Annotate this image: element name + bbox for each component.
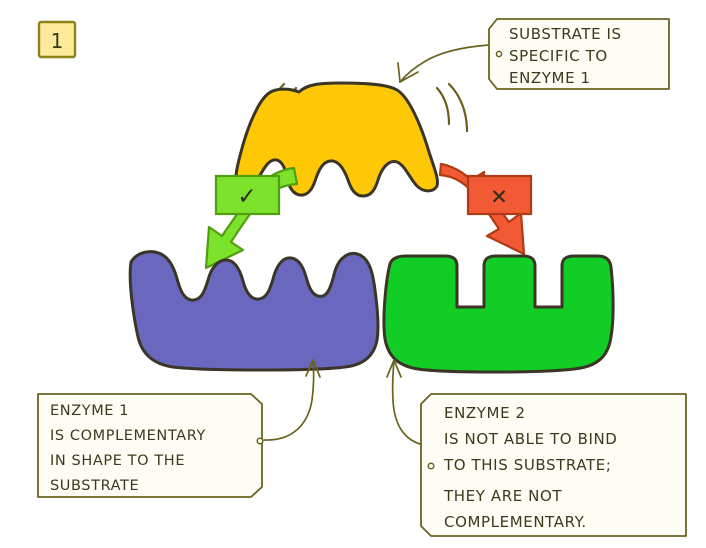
step-number-badge: 1 [39,22,75,57]
enzyme-2-shape [384,256,613,372]
label-substrate-note: SUBSTRATE IS SPECIFIC TO ENZYME 1 [489,19,669,89]
badge-number: 1 [51,29,64,53]
leader-enzyme-2 [387,360,424,445]
label-enzyme-2-line-5: COMPLEMENTARY. [444,513,587,531]
label-enzyme-2-note: ENZYME 2 IS NOT ABLE TO BIND TO THIS SUB… [421,394,686,536]
label-enzyme-1-anchor [257,438,263,444]
label-enzyme-1-line-2: IS COMPLEMENTARY [50,428,206,444]
motion-lines-right [437,84,467,131]
label-enzyme-1-note: ENZYME 1 IS COMPLEMENTARY IN SHAPE TO TH… [38,394,263,497]
label-enzyme-2-line-4: THEY ARE NOT [443,487,562,505]
yes-arrow: ✓ [206,168,297,268]
enzyme-2-body [384,256,613,372]
label-enzyme-2-line-3: TO THIS SUBSTRATE; [443,456,612,474]
label-substrate-line-1: SUBSTRATE IS [509,25,622,43]
label-enzyme-1-line-3: IN SHAPE TO THE [50,453,185,469]
label-enzyme-2-line-2: IS NOT ABLE TO BIND [444,430,617,448]
label-enzyme-2-anchor [428,463,434,469]
label-substrate-line-2: SPECIFIC TO [509,47,608,65]
label-enzyme-1-line-1: ENZYME 1 [50,403,129,419]
leader-substrate [398,45,489,82]
check-icon: ✓ [237,184,256,210]
no-arrow: ✕ [440,164,531,254]
diagram-artboard: 1 ✓ ✕ [0,0,706,548]
leader-enzyme-1 [264,360,320,440]
label-substrate-anchor [496,51,501,56]
label-enzyme-2-line-1: ENZYME 2 [444,404,526,422]
cross-icon: ✕ [490,185,508,209]
enzyme-specificity-diagram: 1 ✓ ✕ [0,0,706,548]
label-substrate-line-3: ENZYME 1 [509,69,591,87]
enzyme-1-body [130,252,378,370]
label-enzyme-1-line-4: SUBSTRATE [50,478,139,494]
enzyme-1-shape [130,252,378,370]
